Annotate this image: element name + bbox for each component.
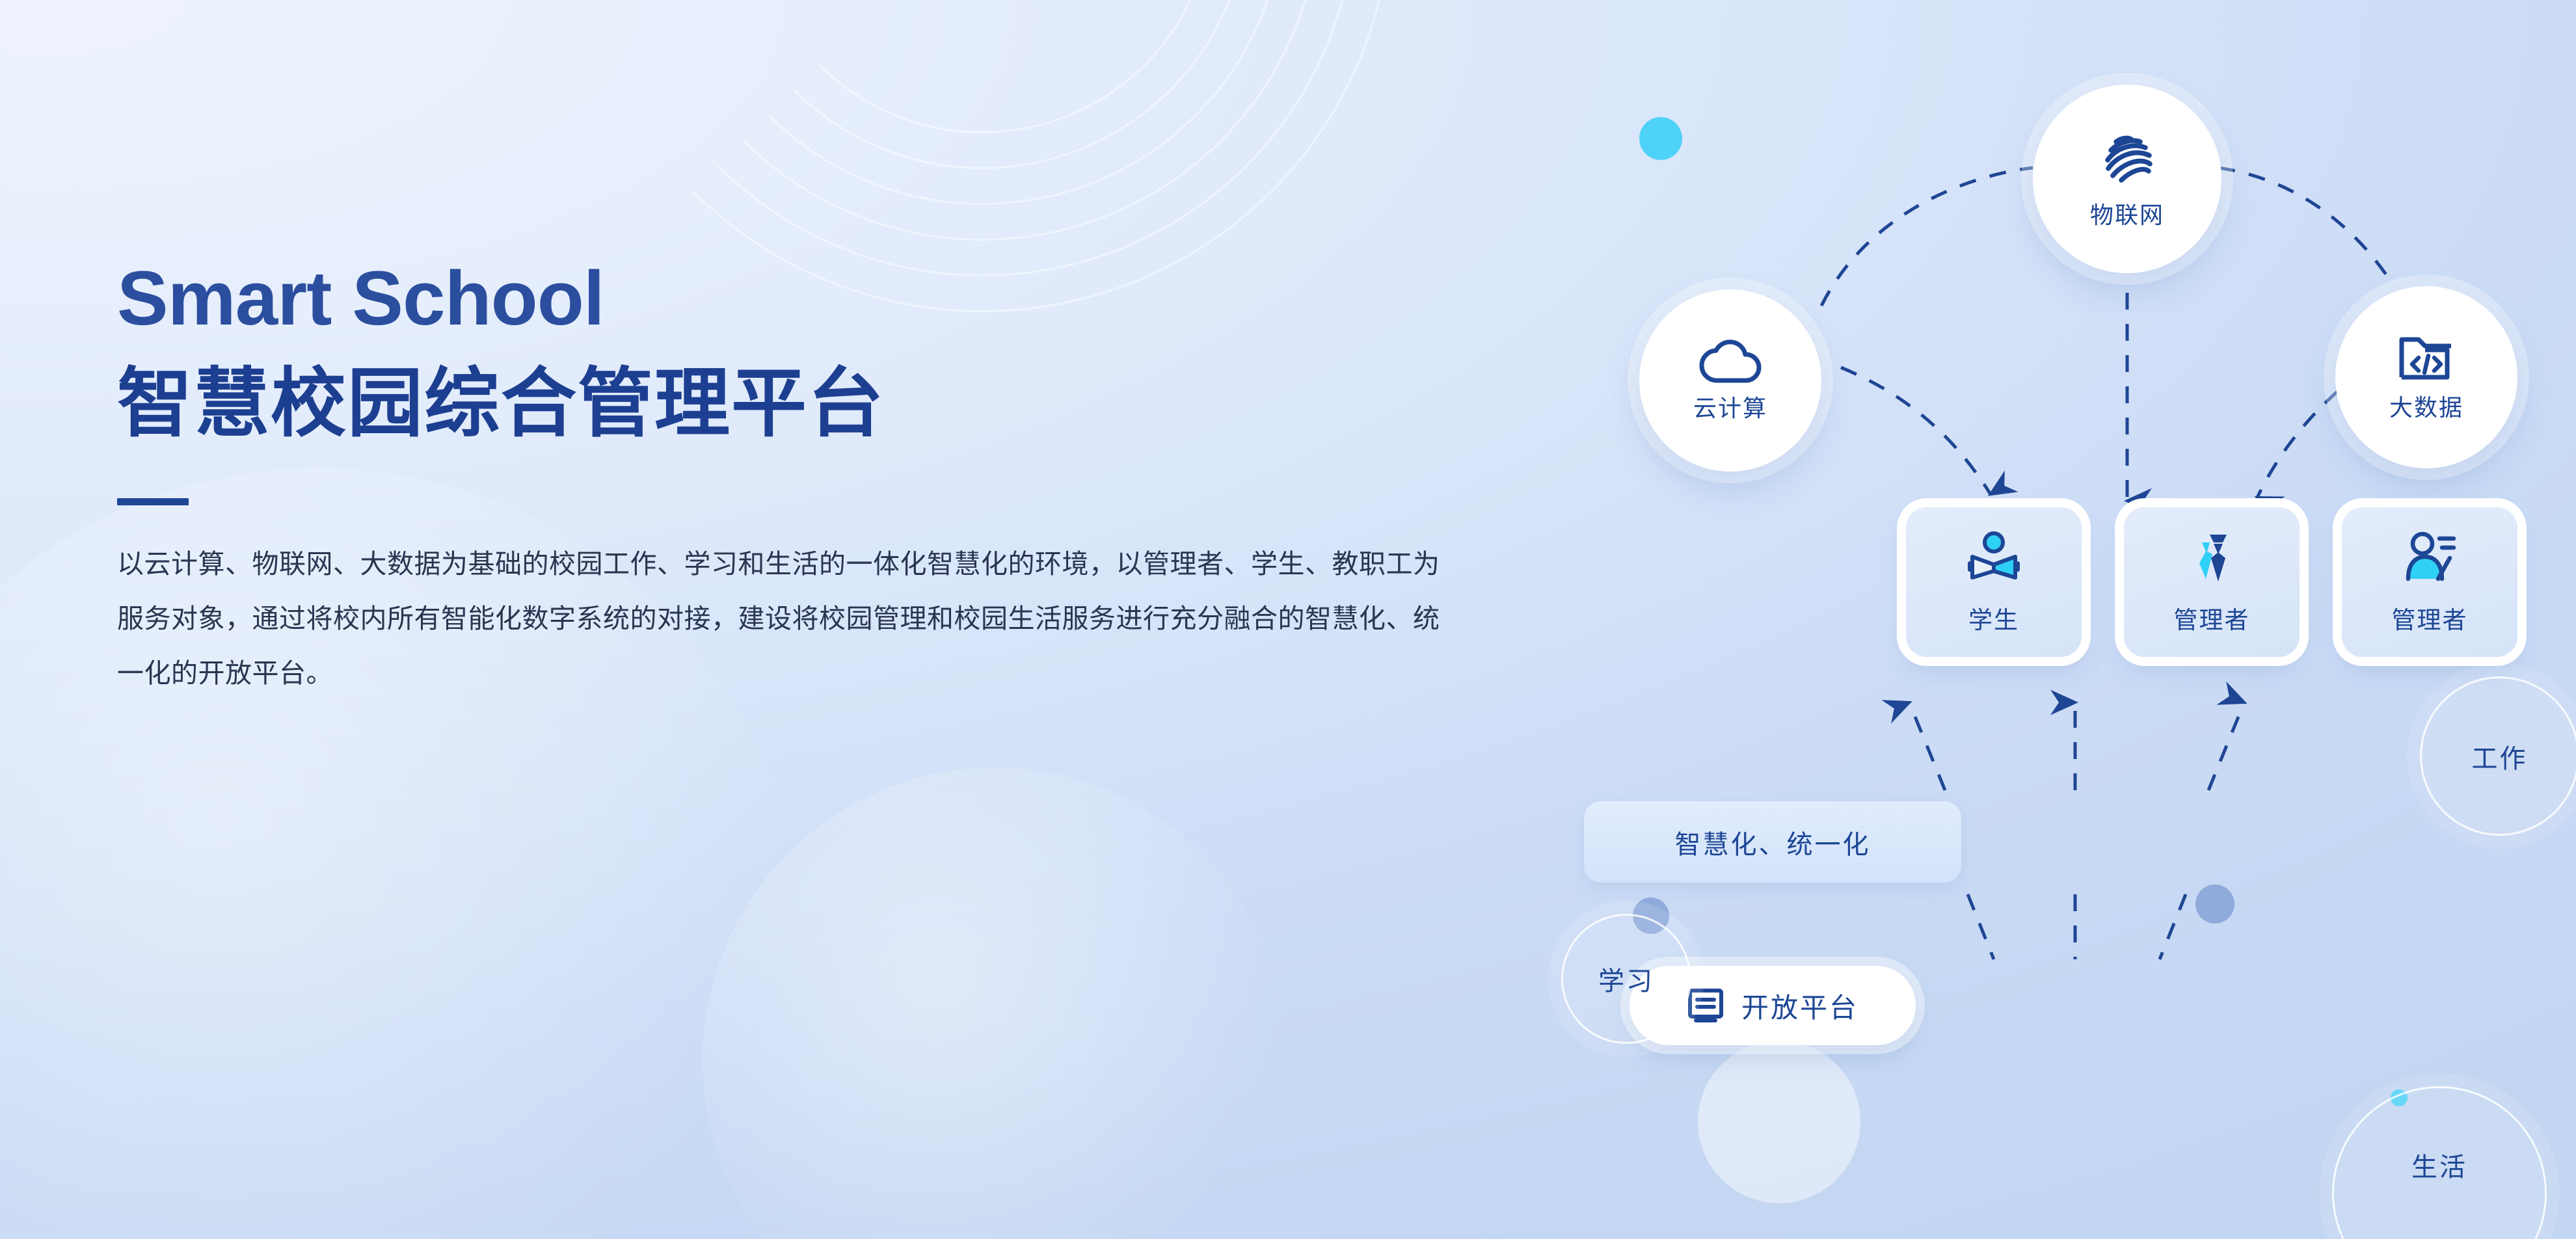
decorative-blob-bottom bbox=[703, 767, 1288, 1239]
page-title-en: Smart School bbox=[117, 260, 1451, 337]
smart-school-banner: Smart School 智慧校园综合管理平台 以云计算、物联网、大数据为基础的… bbox=[0, 0, 2576, 1239]
role-card-student[interactable]: 学生 bbox=[1906, 507, 2082, 657]
role-card-label: 管理者 bbox=[2174, 600, 2250, 635]
integration-bar: 智慧化、统一化 bbox=[1584, 801, 1961, 883]
tech-node-cloud[interactable]: 云计算 bbox=[1639, 289, 1821, 472]
banner-description: 以云计算、物联网、大数据为基础的校园工作、学习和生活的一体化智慧化的环境，以管理… bbox=[117, 537, 1451, 700]
scene-circle-label: 学习 bbox=[1598, 960, 1654, 998]
tech-node-iot[interactable]: 物联网 bbox=[2033, 85, 2221, 273]
role-card-label: 学生 bbox=[1968, 600, 2019, 635]
architecture-diagram: 云计算 物联网 bbox=[1418, 0, 2576, 1239]
tech-node-bigdata[interactable]: 大数据 bbox=[2335, 286, 2517, 468]
tech-node-label: 物联网 bbox=[2090, 196, 2164, 230]
tech-node-label: 云计算 bbox=[1693, 390, 1767, 423]
cloud-icon bbox=[1699, 338, 1762, 386]
open-platform-label: 开放平台 bbox=[1741, 986, 1858, 1026]
person-list-icon bbox=[2400, 529, 2459, 589]
integration-bar-label: 智慧化、统一化 bbox=[1675, 823, 1871, 861]
title-divider bbox=[117, 498, 189, 505]
scene-circle-label: 工作 bbox=[2472, 738, 2528, 775]
necktie-icon bbox=[2184, 529, 2240, 589]
scene-circle-study[interactable]: 学习 bbox=[1561, 914, 1691, 1044]
role-card-label: 管理者 bbox=[2392, 600, 2468, 635]
role-card-manager-list[interactable]: 管理者 bbox=[2342, 507, 2517, 657]
code-folder-icon bbox=[2396, 332, 2456, 385]
document-lines-icon bbox=[1687, 987, 1724, 1024]
student-reading-icon bbox=[1966, 529, 2022, 589]
role-card-manager-tie[interactable]: 管理者 bbox=[2124, 507, 2300, 657]
iot-globe-icon bbox=[2095, 127, 2160, 193]
banner-text-block: Smart School 智慧校园综合管理平台 以云计算、物联网、大数据为基础的… bbox=[117, 260, 1451, 700]
tech-node-label: 大数据 bbox=[2389, 389, 2463, 423]
scene-circle-label: 生活 bbox=[2411, 1146, 2467, 1184]
scene-circle-work[interactable]: 工作 bbox=[2420, 676, 2576, 836]
page-title-cn: 智慧校园综合管理平台 bbox=[117, 366, 1451, 441]
